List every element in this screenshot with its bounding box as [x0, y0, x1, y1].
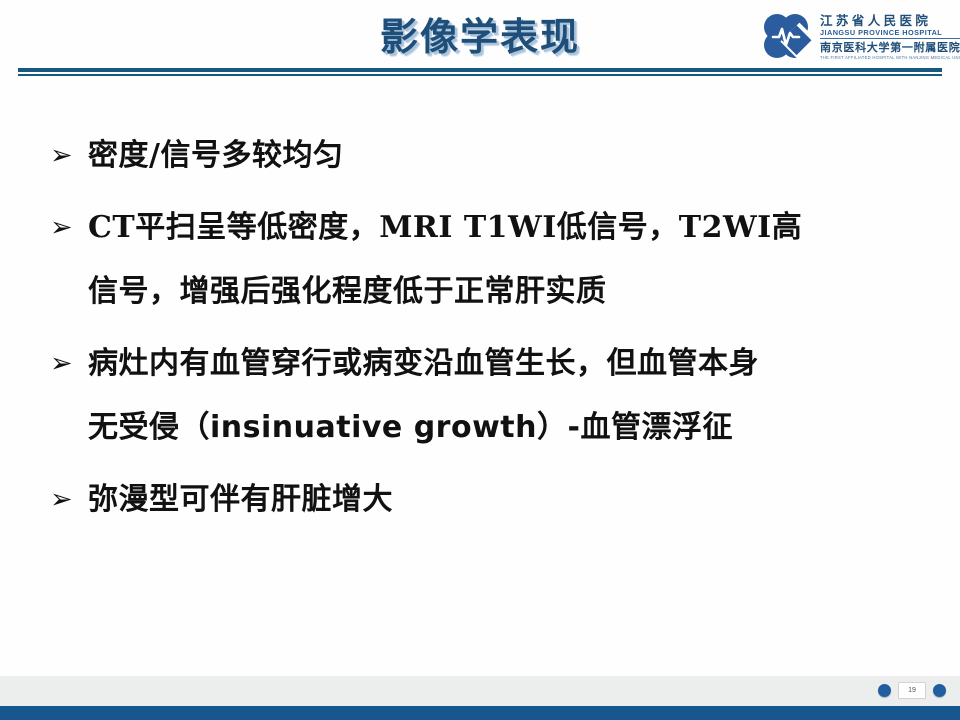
bullet-text-segment: 低信号， [557, 210, 679, 245]
bullet-item: ➢CT平扫呈等低密度，MRI T1WI低信号，T2WI高信号，增强后强化程度低于… [44, 196, 924, 324]
bullet-text-segment: 高 [772, 210, 803, 245]
logo-cn-main: 江苏省人民医院 [820, 13, 960, 28]
footer-band [0, 676, 960, 706]
bullet-text-segment: insinuative growth [210, 410, 537, 445]
bullet-text-segment: ）-血管漂浮征 [537, 410, 733, 445]
header-divider-thick [18, 68, 942, 72]
bullet-text-segment: 无受侵（ [88, 410, 210, 445]
bullet-text: CT平扫呈等低密度，MRI T1WI低信号，T2WI高信号，增强后强化程度低于正… [88, 196, 924, 324]
header-divider [18, 68, 942, 76]
slide-header: 影像学表现 江苏省人民医院 [0, 0, 960, 80]
bullet-item: ➢病灶内有血管穿行或病变沿血管生长，但血管本身无受侵（insinuative g… [44, 332, 924, 460]
bullet-line: 病灶内有血管穿行或病变沿血管生长，但血管本身 [88, 332, 924, 396]
page-number-chip: 19 [898, 682, 926, 699]
bullet-arrow-icon: ➢ [44, 124, 88, 188]
bullet-text: 弥漫型可伴有肝脏增大 [88, 468, 924, 532]
bullet-item: ➢密度/信号多较均匀 [44, 124, 924, 188]
bullet-text-segment: T2WI [679, 210, 772, 245]
bullet-item: ➢弥漫型可伴有肝脏增大 [44, 468, 924, 532]
bullet-text-segment: 平扫呈等低密度， [135, 210, 379, 245]
bullet-text: 病灶内有血管穿行或病变沿血管生长，但血管本身无受侵（insinuative gr… [88, 332, 924, 460]
bullet-text-segment: 病灶内有血管穿行或病变沿血管生长，但血管本身 [88, 346, 759, 381]
bullet-line: 信号，增强后强化程度低于正常肝实质 [88, 260, 924, 324]
slide-navigation: 19 [878, 682, 946, 699]
bullet-text-segment: MRI T1WI [379, 210, 557, 245]
bullet-line: CT平扫呈等低密度，MRI T1WI低信号，T2WI高 [88, 196, 924, 260]
bullet-arrow-icon: ➢ [44, 332, 88, 396]
hospital-logo-icon [758, 8, 814, 64]
bullet-text: 密度/信号多较均匀 [88, 124, 924, 188]
logo-cn-sub: 南京医科大学第一附属医院 [820, 39, 960, 55]
bullet-line: 无受侵（insinuative growth）-血管漂浮征 [88, 396, 924, 460]
footer-bar [0, 706, 960, 720]
logo-en-sub: THE FIRST AFFILIATED HOSPITAL WITH NANJI… [820, 55, 960, 61]
logo-en-main: JIANGSU PROVINCE HOSPITAL [820, 28, 960, 39]
header-divider-thin [18, 74, 942, 76]
bullet-text-segment: CT [88, 210, 135, 245]
bullet-arrow-icon: ➢ [44, 468, 88, 532]
bullet-text-segment: 信号，增强后强化程度低于正常肝实质 [88, 274, 607, 309]
hospital-logo: 江苏省人民医院 JIANGSU PROVINCE HOSPITAL 南京医科大学… [758, 6, 954, 66]
bullet-text-segment: 密度/信号多较均匀 [88, 138, 343, 173]
bullet-list: ➢密度/信号多较均匀➢CT平扫呈等低密度，MRI T1WI低信号，T2WI高信号… [44, 124, 924, 540]
bullet-line: 密度/信号多较均匀 [88, 124, 924, 188]
next-slide-dot-icon[interactable] [933, 684, 946, 697]
bullet-arrow-icon: ➢ [44, 196, 88, 260]
previous-slide-dot-icon[interactable] [878, 684, 891, 697]
hospital-logo-text: 江苏省人民医院 JIANGSU PROVINCE HOSPITAL 南京医科大学… [820, 11, 960, 61]
slide-canvas: 影像学表现 江苏省人民医院 [0, 0, 960, 720]
bullet-text-segment: 弥漫型可伴有肝脏增大 [88, 482, 393, 517]
bullet-line: 弥漫型可伴有肝脏增大 [88, 468, 924, 532]
